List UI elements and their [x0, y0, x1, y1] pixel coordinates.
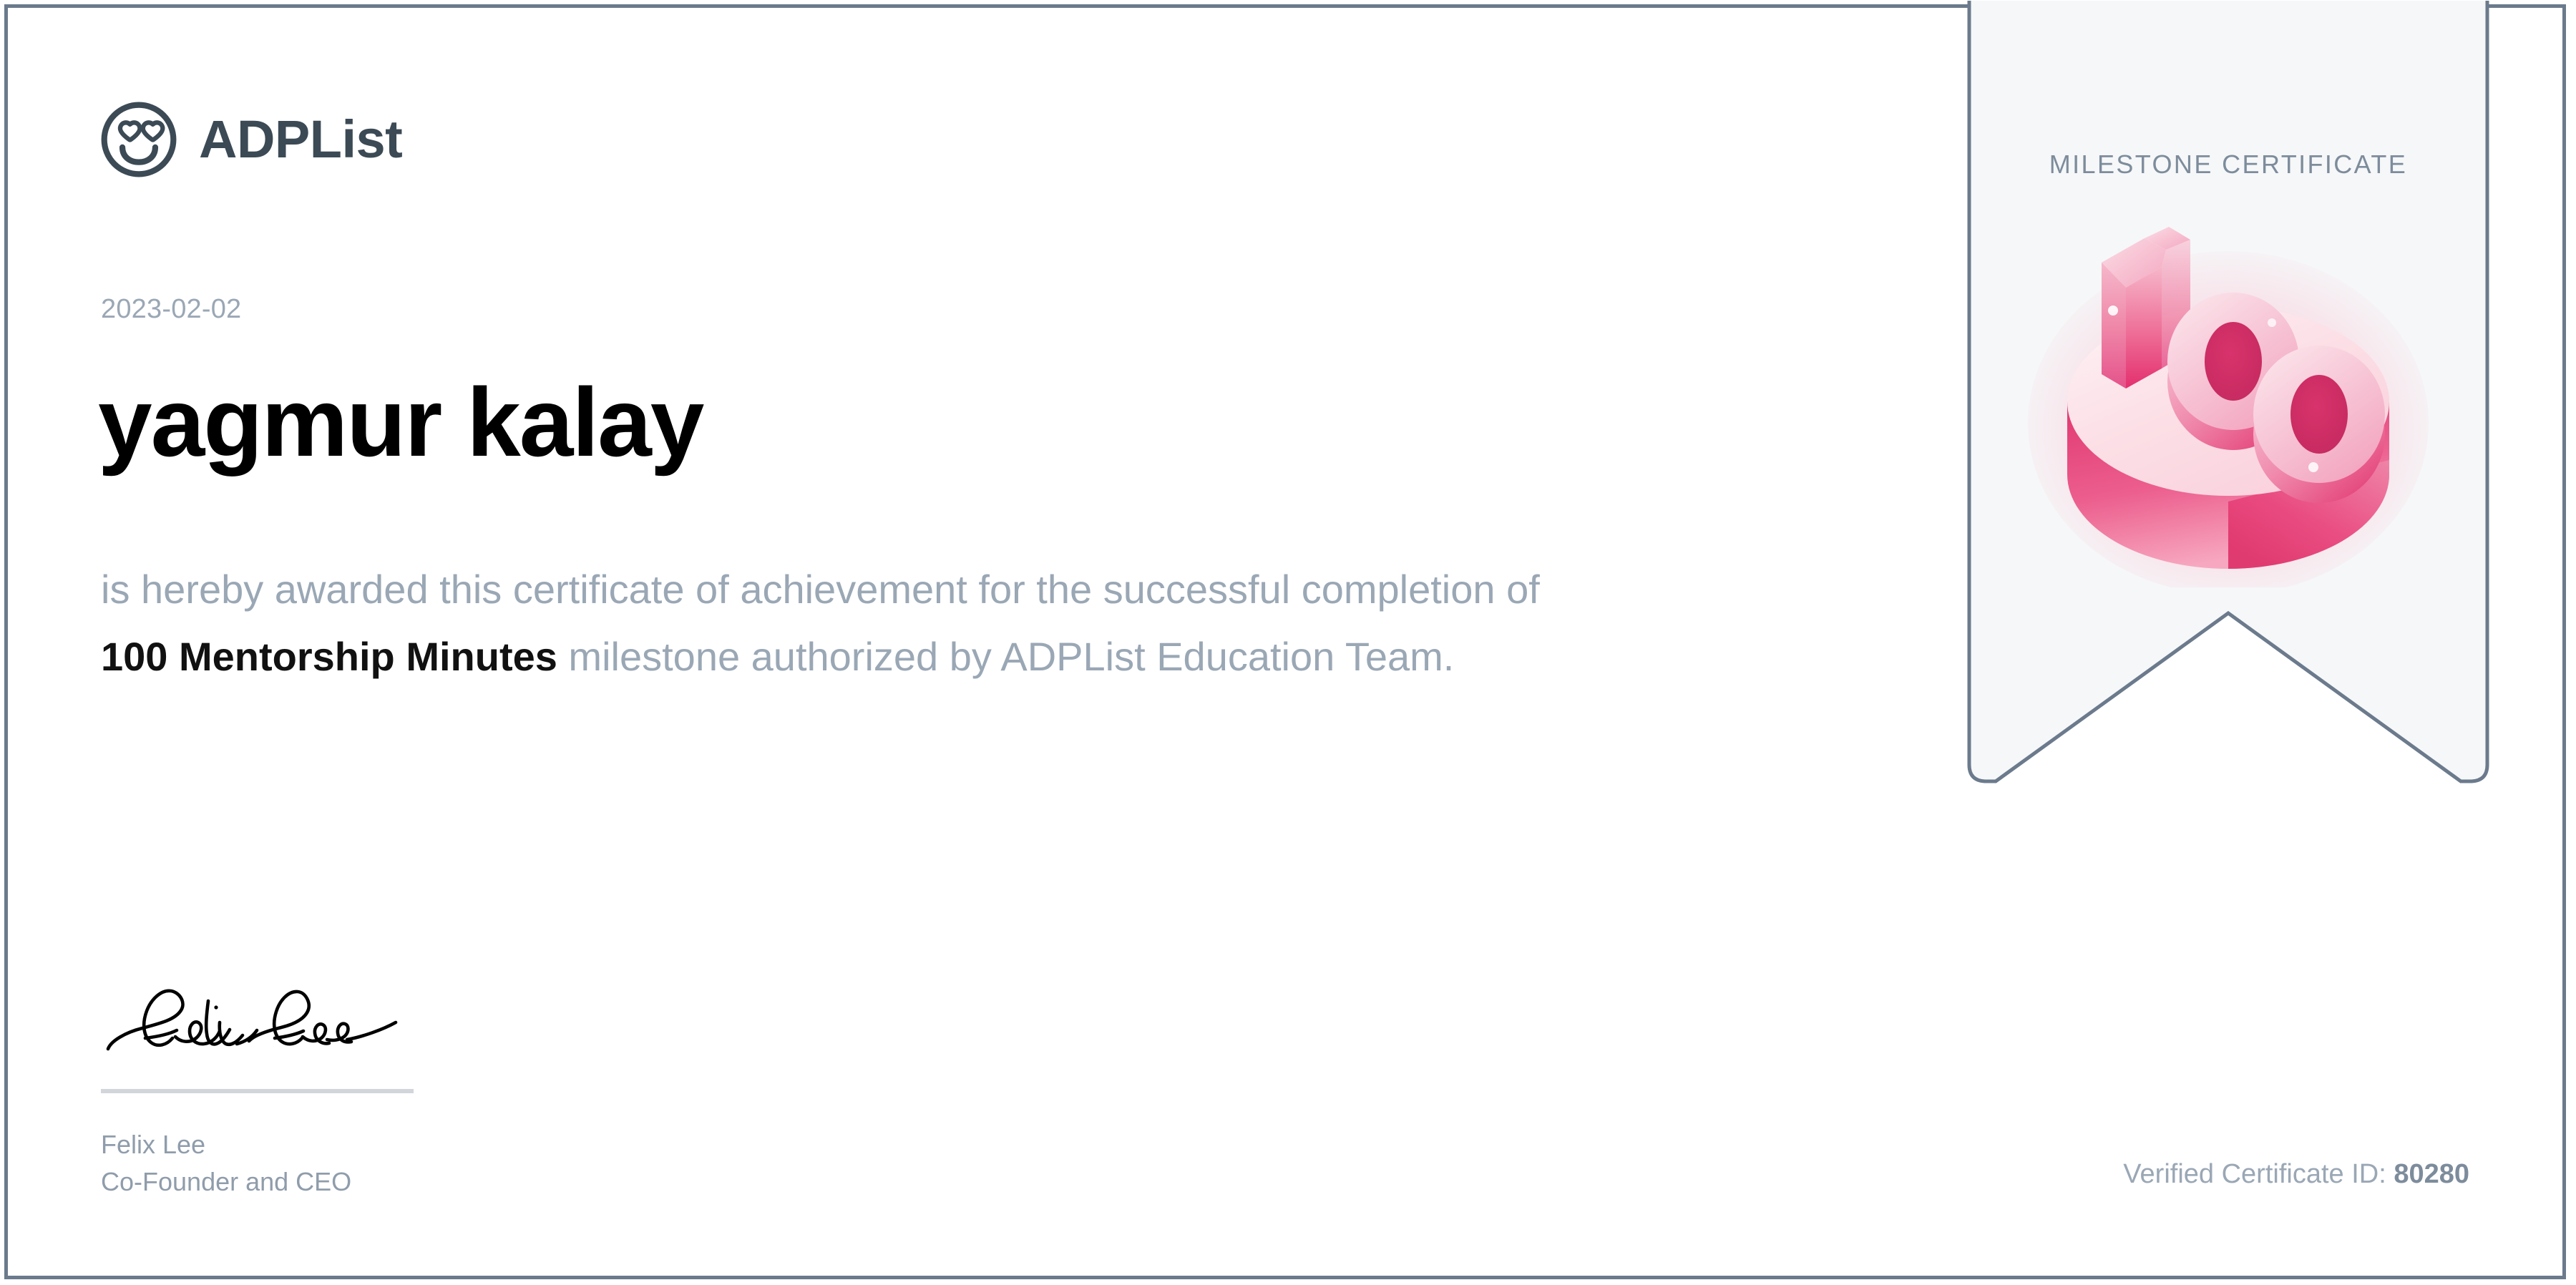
- brand-logo: ADPList: [97, 98, 402, 181]
- milestone-name: 100 Mentorship Minutes: [101, 634, 557, 679]
- smiley-heart-eyes-icon: [97, 98, 180, 181]
- verified-certificate-id: Verified Certificate ID: 80280: [2123, 1159, 2469, 1190]
- award-statement: is hereby awarded this certificate of ac…: [101, 556, 1604, 690]
- certificate-card: ADPList 2023-02-02 yagmur kalay is hereb…: [4, 4, 2566, 1279]
- award-statement-lead: is hereby awarded this certificate of ac…: [101, 567, 1540, 612]
- milestone-ribbon: MILESTONE CERTIFICATE: [1967, 1, 2489, 792]
- felix-lee-signature-icon: [101, 975, 416, 1072]
- verified-label: Verified Certificate ID:: [2123, 1159, 2394, 1189]
- signer-title: Co-Founder and CEO: [101, 1163, 416, 1201]
- signature-divider: [101, 1089, 414, 1093]
- signer-name: Felix Lee: [101, 1126, 416, 1163]
- recipient-name: yagmur kalay: [98, 364, 703, 481]
- brand-name: ADPList: [199, 113, 402, 166]
- ribbon-label: MILESTONE CERTIFICATE: [1967, 150, 2489, 180]
- award-statement-tail: milestone authorized by ADPList Educatio…: [557, 634, 1454, 679]
- signature-block: Felix Lee Co-Founder and CEO: [101, 975, 416, 1201]
- isometric-100-milestone-badge-icon: [2026, 208, 2431, 587]
- issue-date: 2023-02-02: [101, 294, 241, 325]
- verified-id-value: 80280: [2394, 1159, 2469, 1189]
